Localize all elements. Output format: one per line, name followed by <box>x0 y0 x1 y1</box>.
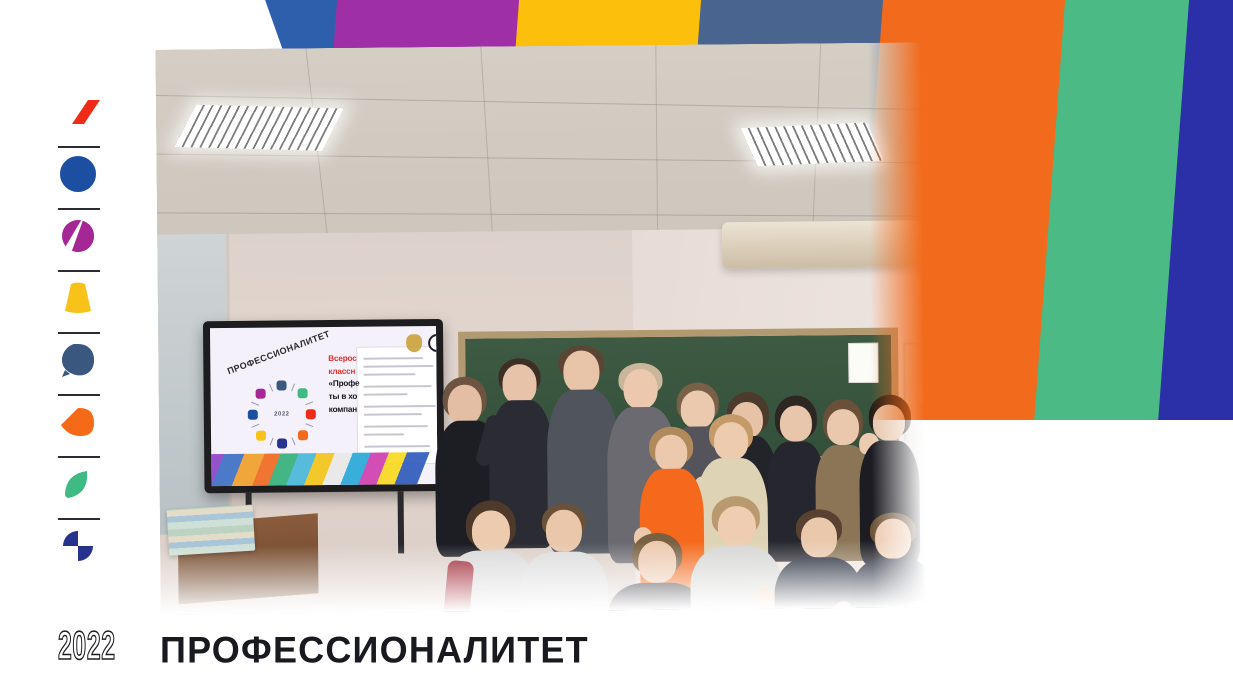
person <box>520 503 610 614</box>
whiteboard-logo-tick <box>270 437 274 445</box>
person <box>690 496 784 615</box>
interactive-whiteboard[interactable]: ПРОФЕССИОНАЛИТЕТ 2022 <box>203 319 445 493</box>
classroom-group-photo: ПРОФЕССИОНАЛИТЕТ 2022 <box>155 42 926 614</box>
slide-footer: 2022 ПРОФЕССИОНАЛИТЕТ <box>0 608 1233 694</box>
whiteboard-logo-dot <box>276 380 286 390</box>
rail-item-blob[interactable] <box>56 340 114 402</box>
year-badge: 2022 <box>58 624 116 669</box>
whiteboard-logo-tick <box>305 401 313 405</box>
rail-divider <box>58 332 100 334</box>
headline-line: компан <box>329 403 407 416</box>
whiteboard-logo-dot <box>248 410 258 420</box>
rail-divider <box>58 270 100 272</box>
rail-divider <box>58 146 100 148</box>
person <box>850 512 927 614</box>
whiteboard-headline: Всерос классн «Профе ты в хо компан <box>328 352 407 416</box>
slide-canvas: ПРОФЕССИОНАЛИТЕТ 2022 <box>0 0 1233 694</box>
rail-item-leaf[interactable] <box>56 464 114 526</box>
navy-blob-icon <box>56 340 100 380</box>
rail-item-target[interactable] <box>56 154 114 216</box>
rail-item-split[interactable] <box>56 216 114 278</box>
red-slash-icon <box>56 92 100 132</box>
whiteboard-logo-tick <box>292 437 296 445</box>
whiteboard-logo-dot <box>297 389 307 399</box>
headline-line: Всерос <box>328 352 406 365</box>
ceiling-lamp <box>741 123 884 166</box>
whiteboard-logo-tick <box>252 402 260 406</box>
headline-line: ты в хо <box>329 390 407 403</box>
whiteboard-logo-dot <box>256 389 266 399</box>
whiteboard-logo: ПРОФЕССИОНАЛИТЕТ 2022 <box>222 341 343 452</box>
rail-divider <box>58 456 100 458</box>
air-conditioner <box>722 220 927 268</box>
rail-item-pinwheel[interactable] <box>56 526 114 588</box>
whiteboard-logo-dot <box>277 438 287 448</box>
brand-wordmark: ПРОФЕССИОНАЛИТЕТ <box>160 628 589 672</box>
coat-of-arms-emblem <box>406 334 422 352</box>
whiteboard-screen: ПРОФЕССИОНАЛИТЕТ 2022 <box>210 326 438 486</box>
green-leaf-icon <box>56 464 100 504</box>
wall-poster <box>848 343 878 383</box>
whiteboard-logo-tick <box>252 424 260 428</box>
rail-item-slash[interactable] <box>56 92 114 154</box>
rail-divider <box>58 208 100 210</box>
whiteboard-logo-dot <box>256 430 266 440</box>
rail-item-trapezoid[interactable] <box>56 278 114 340</box>
whiteboard-logo-tick <box>291 384 295 392</box>
orange-droplet-icon <box>56 402 100 442</box>
headline-line: классн <box>328 365 406 378</box>
whiteboard-logo-dot <box>297 430 307 440</box>
yellow-trapezoid-icon <box>56 278 100 318</box>
ceiling-lamp <box>175 105 344 151</box>
whiteboard-logo-year: 2022 <box>274 411 289 417</box>
whiteboard-logo-tick <box>269 384 273 392</box>
blue-target-icon <box>56 154 100 194</box>
rail-divider <box>58 518 100 520</box>
whiteboard-logo-tick <box>305 423 313 427</box>
headline-line: «Профе <box>328 378 406 391</box>
whiteboard-logo-dot <box>306 409 316 419</box>
whiteboard-logo-wheel: 2022 <box>244 377 319 452</box>
indigo-pinwheel-icon <box>56 526 100 566</box>
purple-split-icon <box>56 216 100 256</box>
whiteboard-rainbow-bar <box>210 452 430 486</box>
whiteboard-logo-word: ПРОФЕССИОНАЛИТЕТ <box>226 329 331 377</box>
stack-of-books <box>167 505 256 556</box>
rail-item-droplet[interactable] <box>56 402 114 464</box>
professionalitet-icon-rail <box>56 92 114 588</box>
rail-divider <box>58 394 100 396</box>
